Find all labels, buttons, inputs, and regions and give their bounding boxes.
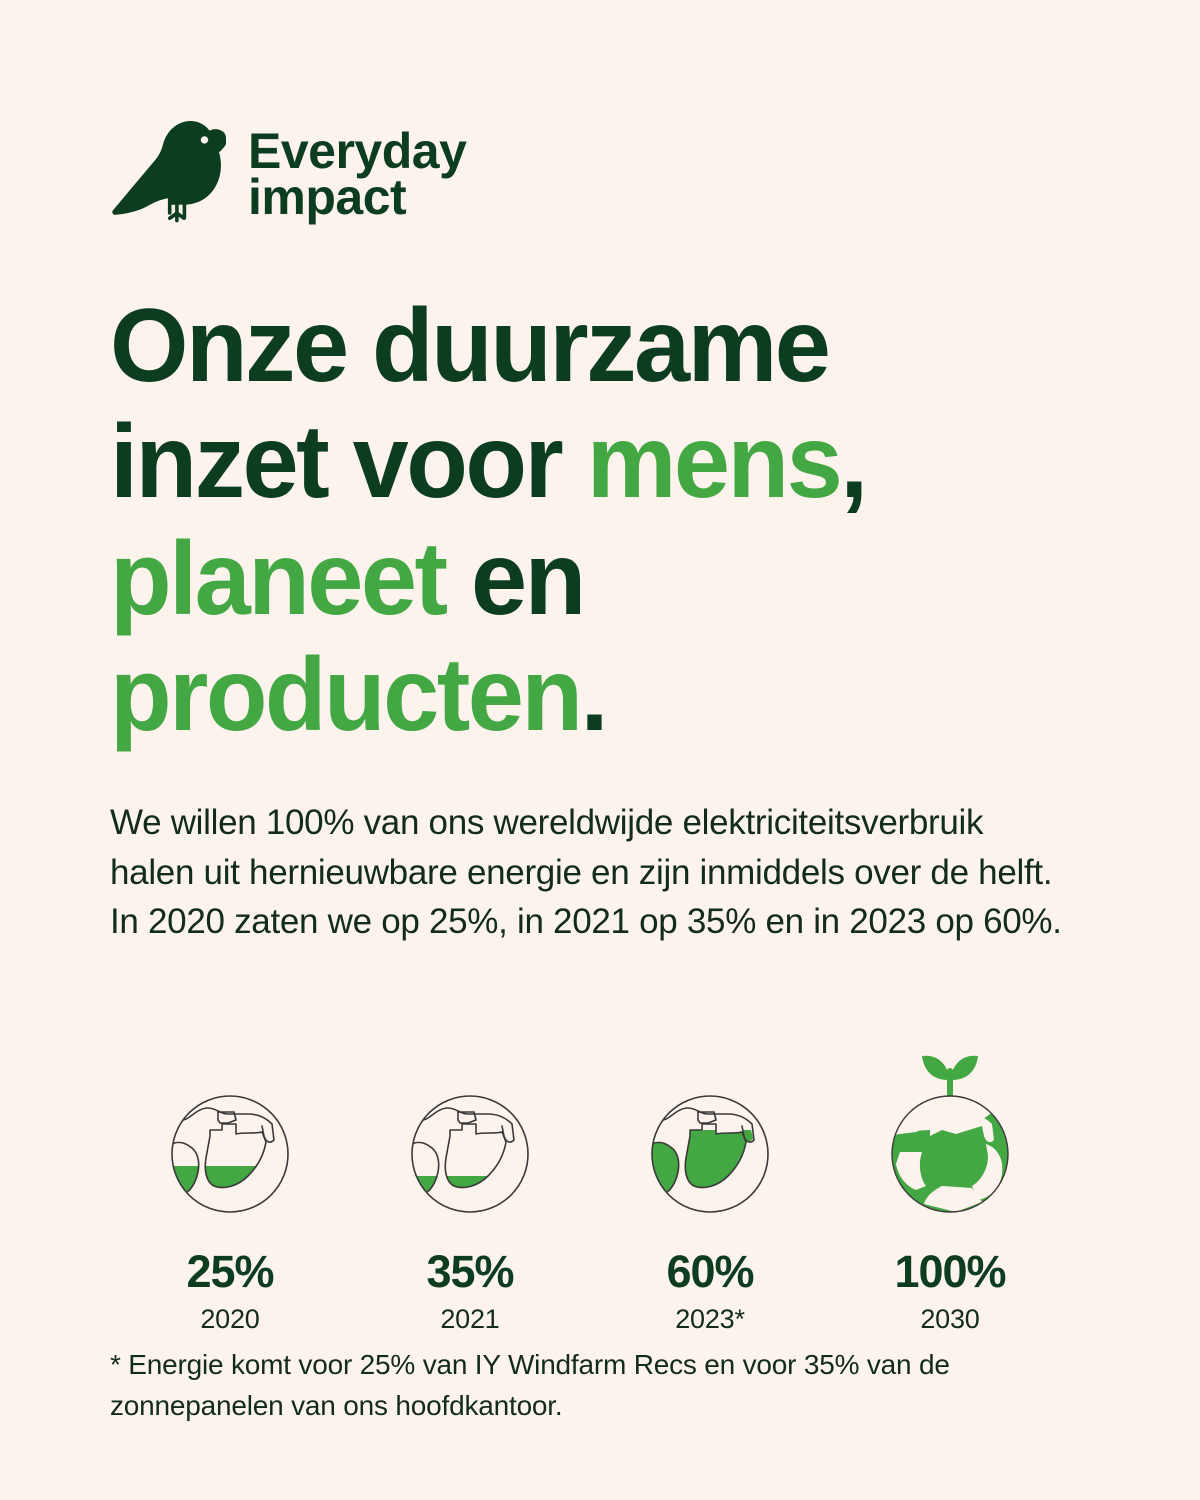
headline-period: . [580, 637, 606, 753]
page-title: Onze duurzame inzet voor mens, planeet e… [110, 288, 1090, 754]
headline-accent-producten: producten [110, 637, 580, 753]
bird-icon [108, 118, 226, 230]
headline-accent-planeet: planeet [110, 521, 446, 637]
headline-line-4: producten. [110, 637, 1090, 753]
stat-item: 35% 2021 [350, 1028, 590, 1335]
logo-line-1: Everyday [248, 128, 466, 175]
infographic-page: Everyday impact Onze duurzame inzet voor… [0, 0, 1200, 1500]
brand-logo: Everyday impact [108, 118, 466, 230]
globe-icon [646, 1090, 774, 1218]
headline-text-dark: inzet voor [110, 404, 587, 520]
stat-item: 100% 2030 [830, 1028, 1070, 1335]
headline-line-2: inzet voor mens, [110, 404, 1090, 520]
logo-wordmark: Everyday impact [248, 128, 466, 221]
headline-comma: , [840, 404, 866, 520]
headline-line-1: Onze duurzame [110, 288, 1090, 404]
stats-row: 25% 2020 [110, 1028, 1070, 1335]
stat-percentage: 25% [186, 1246, 273, 1298]
globe-container [646, 1028, 774, 1218]
headline-text-en: en [446, 521, 584, 637]
headline-accent-mens: mens [587, 404, 840, 520]
stat-item: 25% 2020 [110, 1028, 350, 1335]
globe-container [406, 1028, 534, 1218]
globe-icon [406, 1090, 534, 1218]
headline-line-3: planeet en [110, 521, 1090, 637]
stat-year: 2023* [675, 1304, 745, 1335]
globe-container [166, 1028, 294, 1218]
stat-percentage: 35% [426, 1246, 513, 1298]
body-paragraph: We willen 100% van ons wereldwijde elekt… [110, 798, 1070, 947]
stat-percentage: 100% [894, 1246, 1005, 1298]
logo-line-2: impact [248, 174, 466, 221]
globe-container [886, 1028, 1014, 1218]
stat-year: 2020 [200, 1304, 259, 1335]
globe-sprout-icon [886, 1040, 1014, 1218]
headline-text-dark: Onze duurzame [110, 288, 828, 404]
globe-icon [166, 1090, 294, 1218]
footnote-text: * Energie komt voor 25% van IY Windfarm … [110, 1345, 1030, 1426]
stat-item: 60% 2023* [590, 1028, 830, 1335]
stat-year: 2021 [440, 1304, 499, 1335]
stat-percentage: 60% [666, 1246, 753, 1298]
stat-year: 2030 [920, 1304, 979, 1335]
